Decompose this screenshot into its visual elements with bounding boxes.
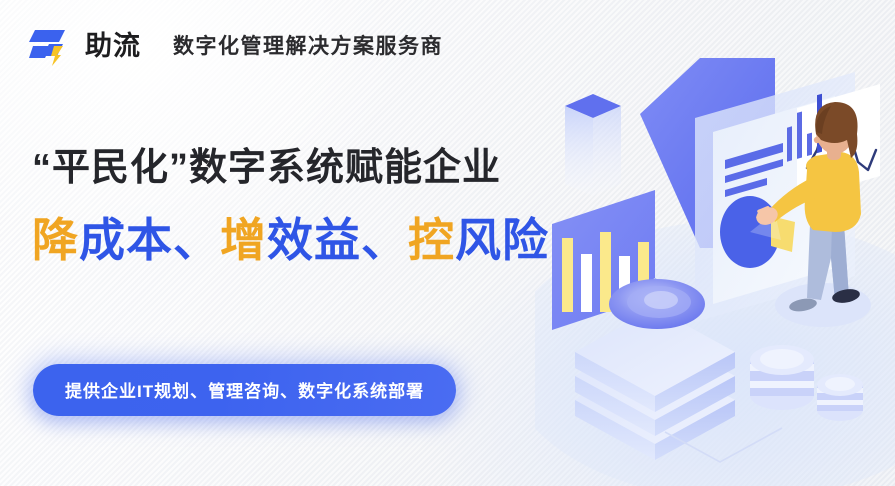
- headline-part-6: 风险: [455, 214, 549, 266]
- brand-tagline: 数字化管理解决方案服务商: [173, 36, 443, 57]
- board-bar-3: [600, 232, 611, 312]
- brand-name: 助流: [85, 33, 141, 60]
- headline-part-1: 降: [32, 214, 79, 266]
- ear: [814, 137, 820, 143]
- data-analyst-dashboard-illustration: [535, 0, 895, 486]
- headline-part-2: 成本、: [79, 214, 220, 266]
- headline-part-3: 增: [220, 214, 267, 266]
- database-stack-large: [750, 345, 814, 410]
- services-cta-button[interactable]: 提供企业IT规划、管理咨询、数字化系统部署: [33, 364, 456, 416]
- cta-container: 提供企业IT规划、管理咨询、数字化系统部署: [33, 364, 456, 416]
- promo-banner: 助流 数字化管理解决方案服务商 “平民化”数字系统赋能企业 降成本、增效益、控风…: [0, 0, 895, 486]
- headline-secondary: 降成本、增效益、控风险: [32, 214, 549, 267]
- floating-cube: [565, 94, 621, 196]
- database-stack-small: [817, 374, 863, 421]
- board-bar-2: [581, 254, 592, 312]
- headline-primary: “平民化”数字系统赋能企业: [32, 147, 501, 191]
- zhuliu-bolt-logo-icon: [27, 24, 71, 68]
- headline-part-5: 控: [408, 214, 455, 266]
- brand-header: 助流 数字化管理解决方案服务商: [27, 24, 443, 68]
- board-bar-1: [562, 238, 573, 312]
- headline-part-4: 效益、: [267, 214, 408, 266]
